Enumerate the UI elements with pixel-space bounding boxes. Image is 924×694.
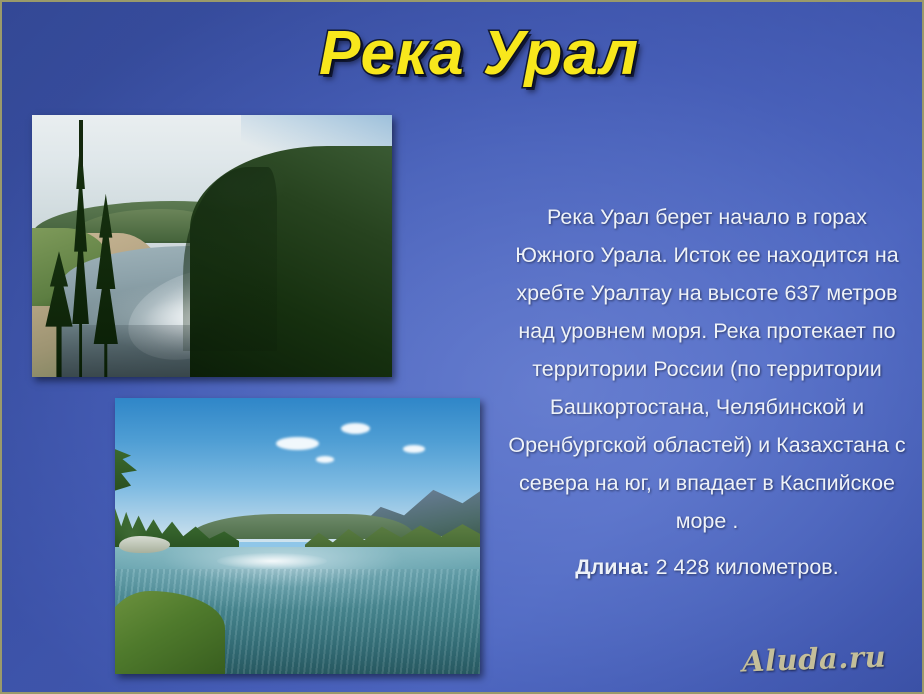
top-photo-fir-spire bbox=[79, 120, 83, 167]
photo-top-river-forest bbox=[32, 115, 392, 377]
body-paragraph: Река Урал берет начало в горах Южного Ур… bbox=[507, 198, 907, 540]
slide-root: Река Урал Река Урал bbox=[0, 0, 924, 694]
photo-bottom-river-mountains bbox=[115, 398, 480, 674]
watermark: Aluda.ru bbox=[741, 639, 886, 678]
bottom-photo-water-glint bbox=[217, 553, 327, 570]
length-value: 2 428 километров. bbox=[656, 555, 839, 579]
length-label: Длина: bbox=[575, 555, 649, 579]
bottom-photo-cloud-4 bbox=[316, 456, 334, 463]
body-text-column: Река Урал берет начало в горах Южного Ур… bbox=[507, 198, 907, 584]
bottom-photo-bank-stones bbox=[119, 536, 170, 553]
length-line: Длина: 2 428 километров. bbox=[507, 550, 907, 584]
page-title: Река Урал bbox=[2, 16, 924, 92]
bottom-photo-cloud-2 bbox=[341, 423, 370, 434]
